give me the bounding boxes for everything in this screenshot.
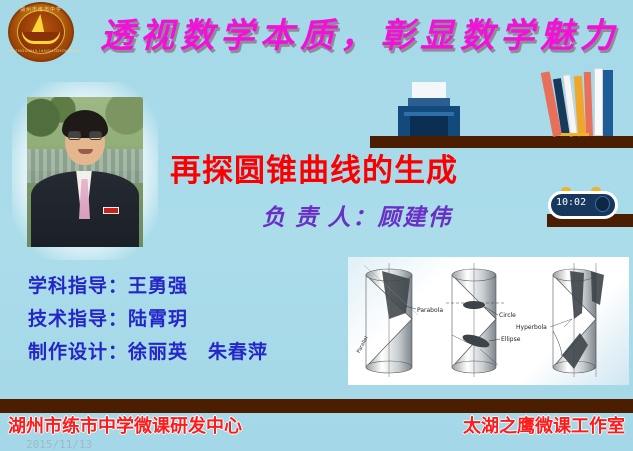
clock-knob-icon — [595, 196, 610, 212]
label-parabola: Parabola — [417, 307, 443, 314]
conic-sections-figure: Parabola Parallel Circle Ellipse — [348, 257, 629, 385]
credit-line-subject-advisor: 学科指导：王勇强 — [28, 270, 268, 303]
footer-date: 2015/11/13 — [26, 438, 92, 451]
photo-lapel-badge — [103, 207, 119, 214]
printer-slot — [410, 116, 448, 136]
presenter-line: 负 责 人：顾建伟 — [262, 203, 453, 233]
credits-block: 学科指导：王勇强 技术指导：陆霄玥 制作设计：徐丽英 朱春萍 — [28, 270, 268, 369]
seal-sail-icon — [31, 14, 48, 34]
footer-right-text: 太湖之鹰微课工作室 — [463, 416, 625, 438]
presenter-portrait — [18, 88, 152, 254]
slide-canvas: 湖州市练市中学 HUZHOUSHILIANSHIZHONGXUE 透视数学本质，… — [0, 0, 633, 451]
book-5 — [584, 72, 593, 136]
label-parallel: Parallel — [356, 335, 370, 354]
clock-time: 10:02 — [556, 197, 586, 208]
label-hyperbola: Hyperbola — [516, 324, 547, 331]
desk-clock: 10:02 — [548, 191, 618, 219]
book-strap-2 — [561, 133, 589, 136]
printer-icon — [398, 82, 460, 136]
seal-text-top: 湖州市练市中学 — [8, 6, 74, 13]
cone-circle-ellipse: Circle Ellipse — [446, 263, 521, 377]
books-icon — [553, 68, 615, 136]
school-seal-logo: 湖州市练市中学 HUZHOUSHILIANSHIZHONGXUE — [8, 2, 76, 64]
header-title: 透视数学本质，彰显数学魅力 — [100, 14, 620, 60]
seal-text-bottom: HUZHOUSHILIANSHIZHONGXUE — [8, 48, 74, 53]
credit-line-design: 制作设计：徐丽英 朱春萍 — [28, 336, 268, 369]
seal-wave-icon — [22, 32, 60, 44]
footer-left-text: 湖州市练市中学微课研发中心 — [8, 416, 242, 438]
credit-line-tech-advisor: 技术指导：陆霄玥 — [28, 303, 268, 336]
shelf-top — [370, 136, 633, 148]
cone-parabola: Parabola Parallel — [356, 263, 443, 377]
book-6 — [594, 68, 603, 136]
subject-title: 再探圆锥曲线的生成 — [170, 152, 458, 190]
label-circle: Circle — [499, 312, 516, 319]
conic-sections-svg: Parabola Parallel Circle Ellipse — [348, 257, 629, 385]
book-7 — [603, 70, 613, 136]
photo-glasses-icon — [68, 131, 102, 140]
cone-hyperbola: Hyperbola — [516, 263, 604, 377]
shelf-bottom — [0, 399, 633, 413]
label-ellipse: Ellipse — [501, 336, 521, 343]
portrait-photo — [27, 97, 143, 247]
